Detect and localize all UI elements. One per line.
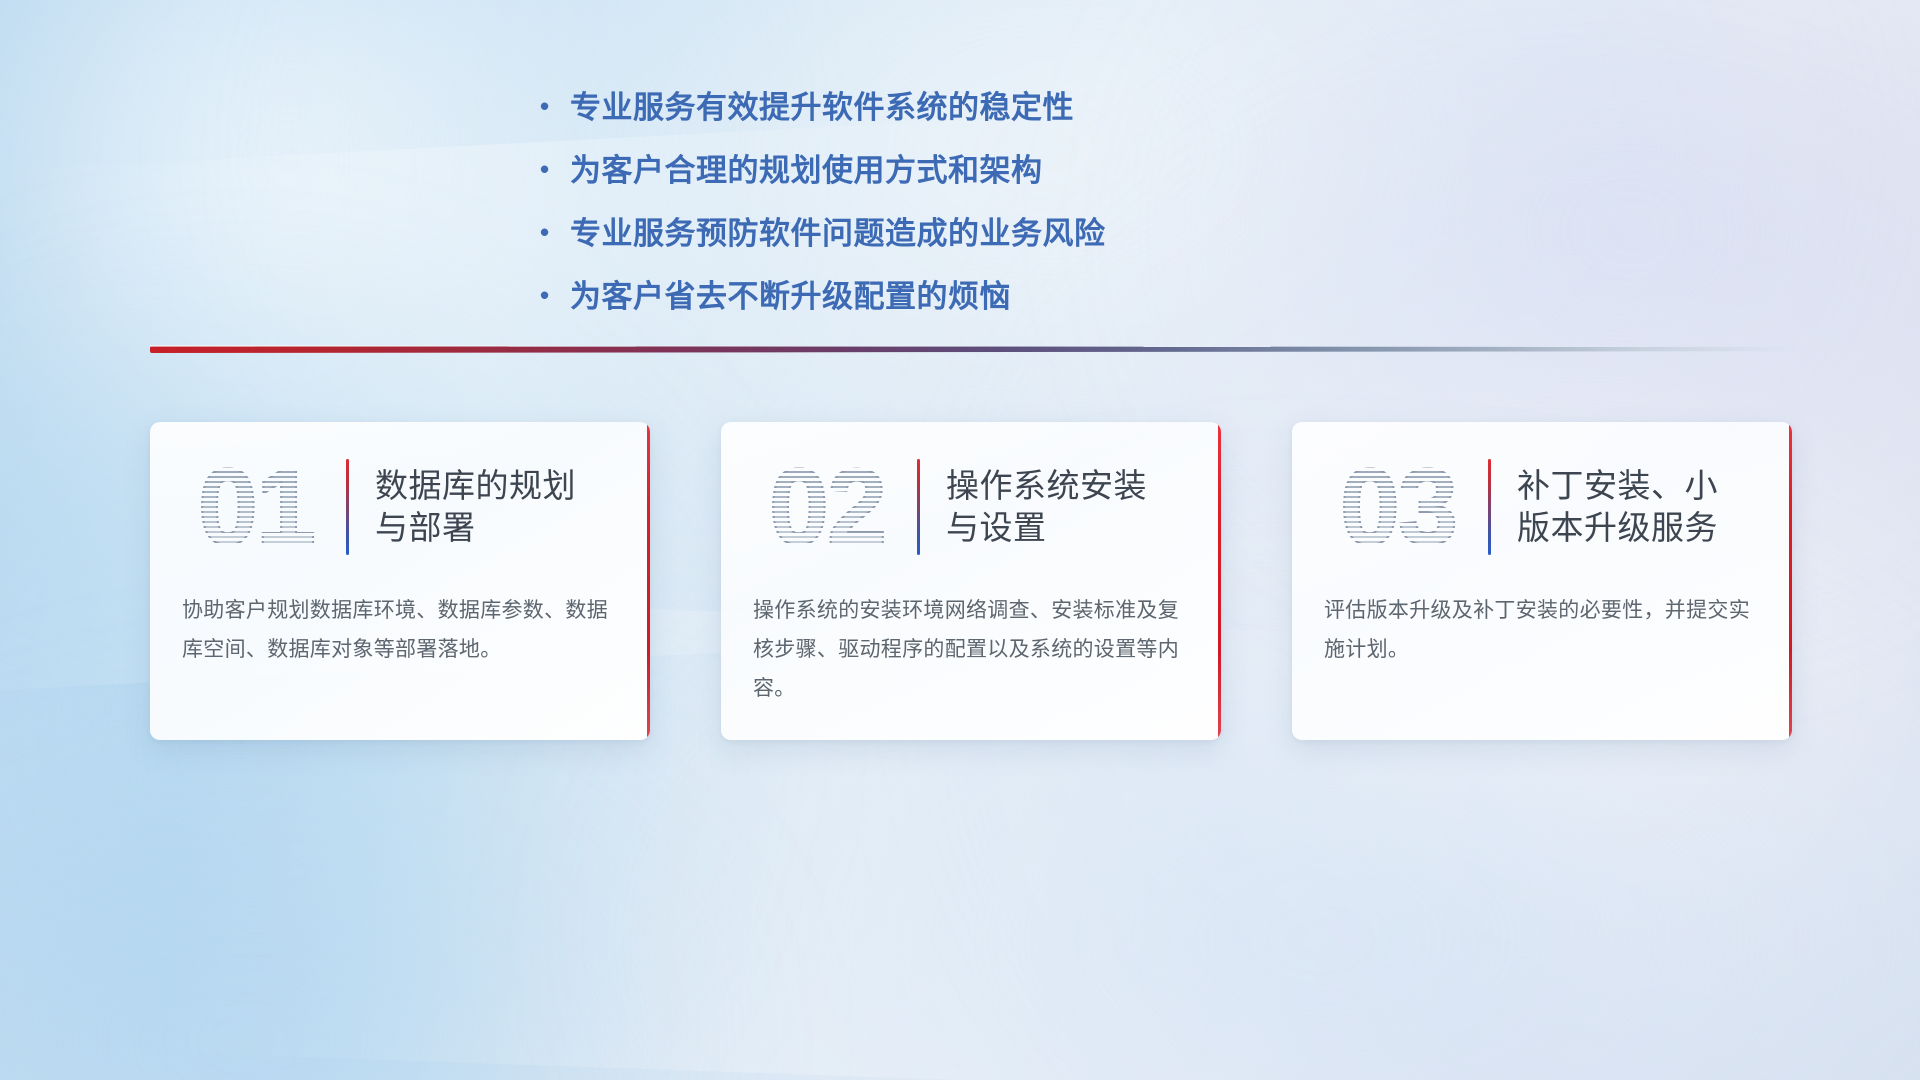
divider-gradient-bar — [150, 346, 1790, 353]
card-header: 01 01 数据库的规划 与部署 — [150, 422, 650, 592]
bullet-text: 为客户合理的规划使用方式和架构 — [570, 151, 1043, 192]
bullet-dot-icon: • — [540, 88, 570, 126]
service-card-row: 01 01 数据库的规划 与部署 协助客户规划数据库环境、数据库参数、数据库空间… — [150, 422, 1792, 742]
card-number-02: 02 02 — [747, 446, 907, 568]
card-number-01: 01 01 — [176, 446, 336, 568]
list-item: • 为客户省去不断升级配置的烦恼 — [540, 277, 1106, 318]
card-header: 03 03 补丁安装、小 版本升级服务 — [1292, 422, 1792, 592]
card-body-text: 协助客户规划数据库环境、数据库参数、数据库空间、数据库对象等部署落地。 — [150, 592, 650, 670]
card-number-red-scanlines: 01 — [176, 446, 336, 568]
bullet-dot-icon: • — [540, 277, 570, 315]
list-item: • 为客户合理的规划使用方式和架构 — [540, 151, 1106, 192]
bullet-text: 专业服务有效提升软件系统的稳定性 — [570, 88, 1074, 129]
bullet-text: 专业服务预防软件问题造成的业务风险 — [570, 214, 1106, 255]
service-card-02[interactable]: 02 02 操作系统安装 与设置 操作系统的安装环境网络调查、安装标准及复核步骤… — [721, 422, 1221, 740]
card-title: 数据库的规划 与部署 — [375, 465, 576, 549]
card-number-03: 03 03 — [1318, 446, 1478, 568]
card-body-text: 操作系统的安装环境网络调查、安装标准及复核步骤、驱动程序的配置以及系统的设置等内… — [721, 592, 1221, 709]
divider-highlight — [150, 345, 1790, 347]
service-card-03[interactable]: 03 03 补丁安装、小 版本升级服务 评估版本升级及补丁安装的必要性，并提交实… — [1292, 422, 1792, 740]
bullet-text: 为客户省去不断升级配置的烦恼 — [570, 277, 1011, 318]
card-divider-bar — [1488, 459, 1491, 555]
list-item: • 专业服务预防软件问题造成的业务风险 — [540, 214, 1106, 255]
card-title: 补丁安装、小 版本升级服务 — [1517, 465, 1718, 549]
service-card-01[interactable]: 01 01 数据库的规划 与部署 协助客户规划数据库环境、数据库参数、数据库空间… — [150, 422, 650, 740]
benefits-bullet-list: • 专业服务有效提升软件系统的稳定性 • 为客户合理的规划使用方式和架构 • 专… — [540, 88, 1106, 340]
card-header: 02 02 操作系统安装 与设置 — [721, 422, 1221, 592]
section-divider — [150, 340, 1790, 366]
card-number-red-scanlines: 02 — [747, 446, 907, 568]
card-body-text: 评估版本升级及补丁安装的必要性，并提交实施计划。 — [1292, 592, 1792, 670]
card-divider-bar — [346, 459, 349, 555]
bullet-dot-icon: • — [540, 151, 570, 189]
list-item: • 专业服务有效提升软件系统的稳定性 — [540, 88, 1106, 129]
card-title: 操作系统安装 与设置 — [946, 465, 1147, 549]
card-divider-bar — [917, 459, 920, 555]
bullet-dot-icon: • — [540, 214, 570, 252]
card-number-red-scanlines: 03 — [1318, 446, 1478, 568]
